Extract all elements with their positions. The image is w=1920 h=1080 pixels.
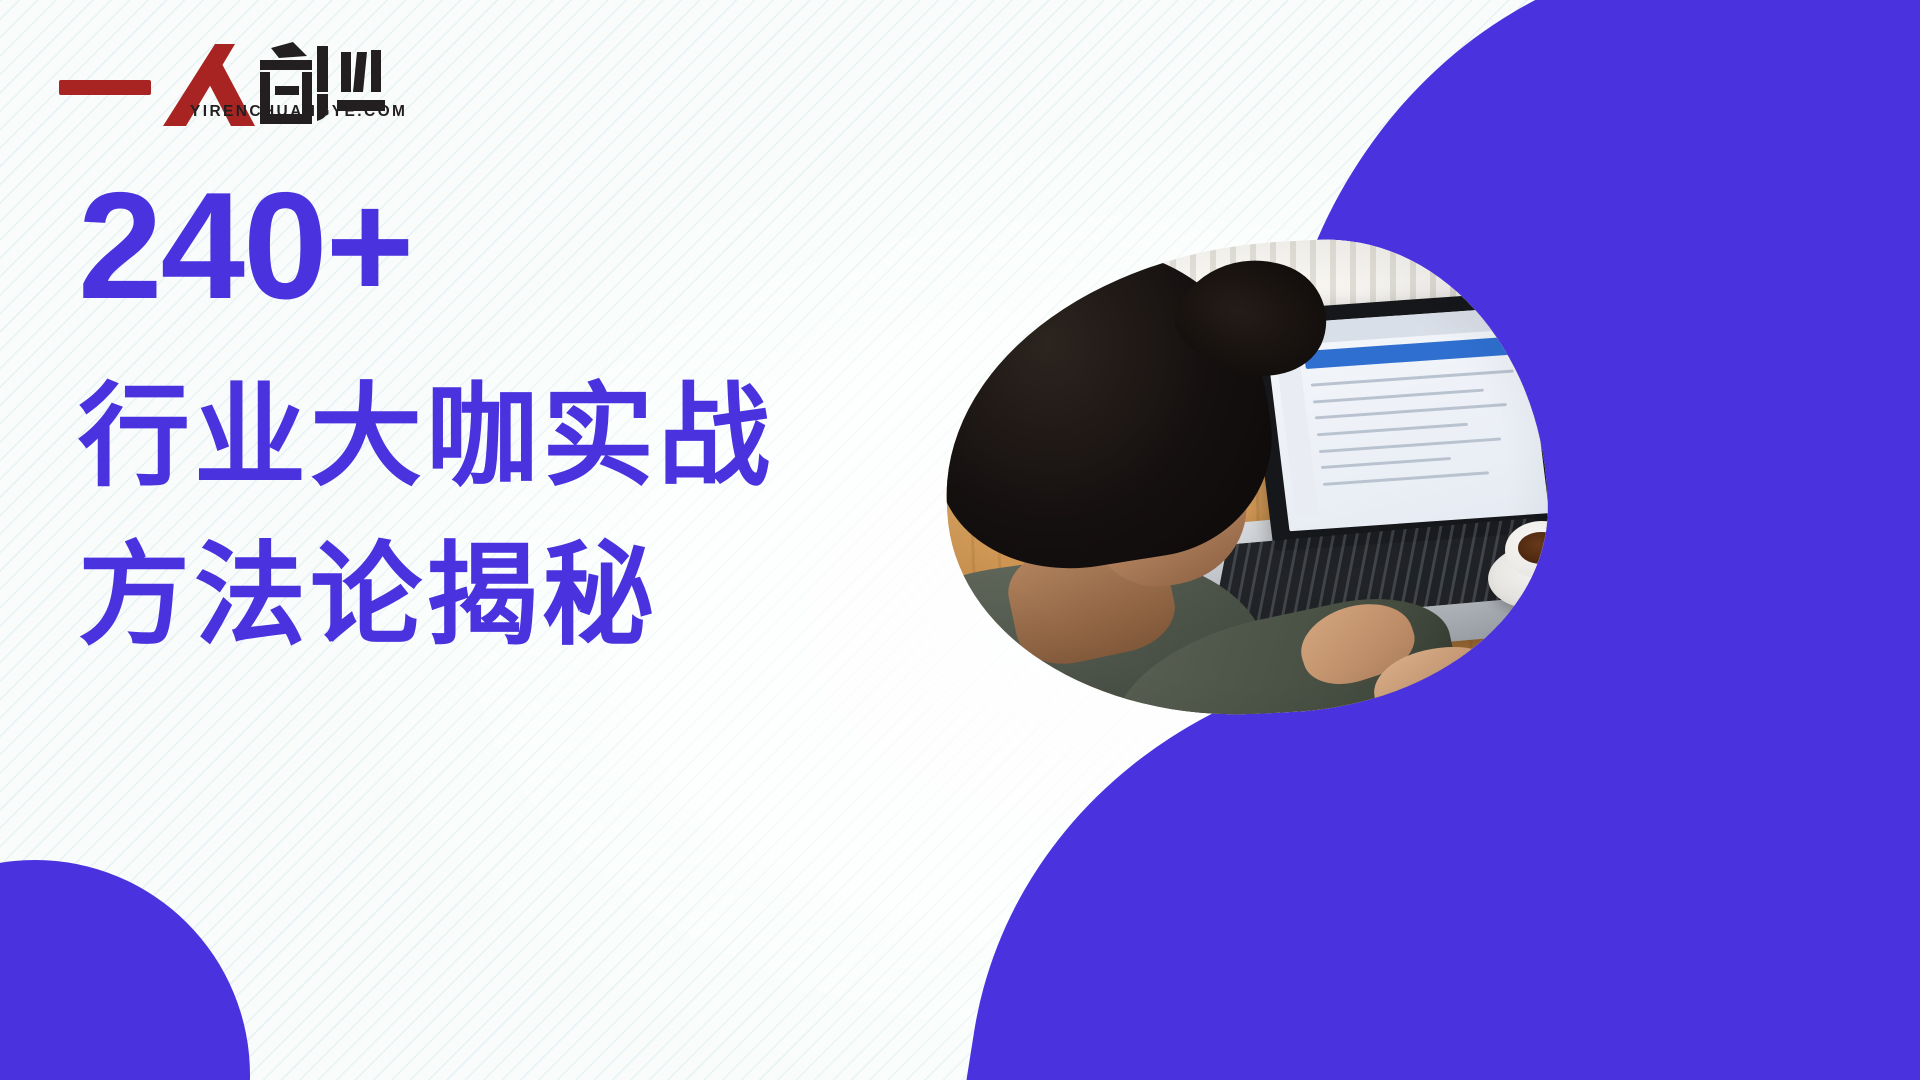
banner-canvas: YIRENCHUANGYE.COM 240+ 行业大咖实战 方法论揭秘 xyxy=(0,0,1920,1080)
headline-line-1: 行业大咖实战 xyxy=(78,360,1018,515)
logo-stroke-yi xyxy=(59,80,151,95)
headline-number: 240+ xyxy=(78,170,1018,322)
logo-glyph-ye xyxy=(337,50,385,111)
brand-domain-text: YIRENCHUANGYE.COM xyxy=(190,103,407,121)
headline-line-2: 方法论揭秘 xyxy=(78,519,1018,674)
photo-vignette xyxy=(934,229,1558,730)
hero-photo xyxy=(934,229,1558,730)
hero-photo-composition xyxy=(934,229,1558,730)
headline-block: 240+ 行业大咖实战 方法论揭秘 xyxy=(78,170,1018,673)
